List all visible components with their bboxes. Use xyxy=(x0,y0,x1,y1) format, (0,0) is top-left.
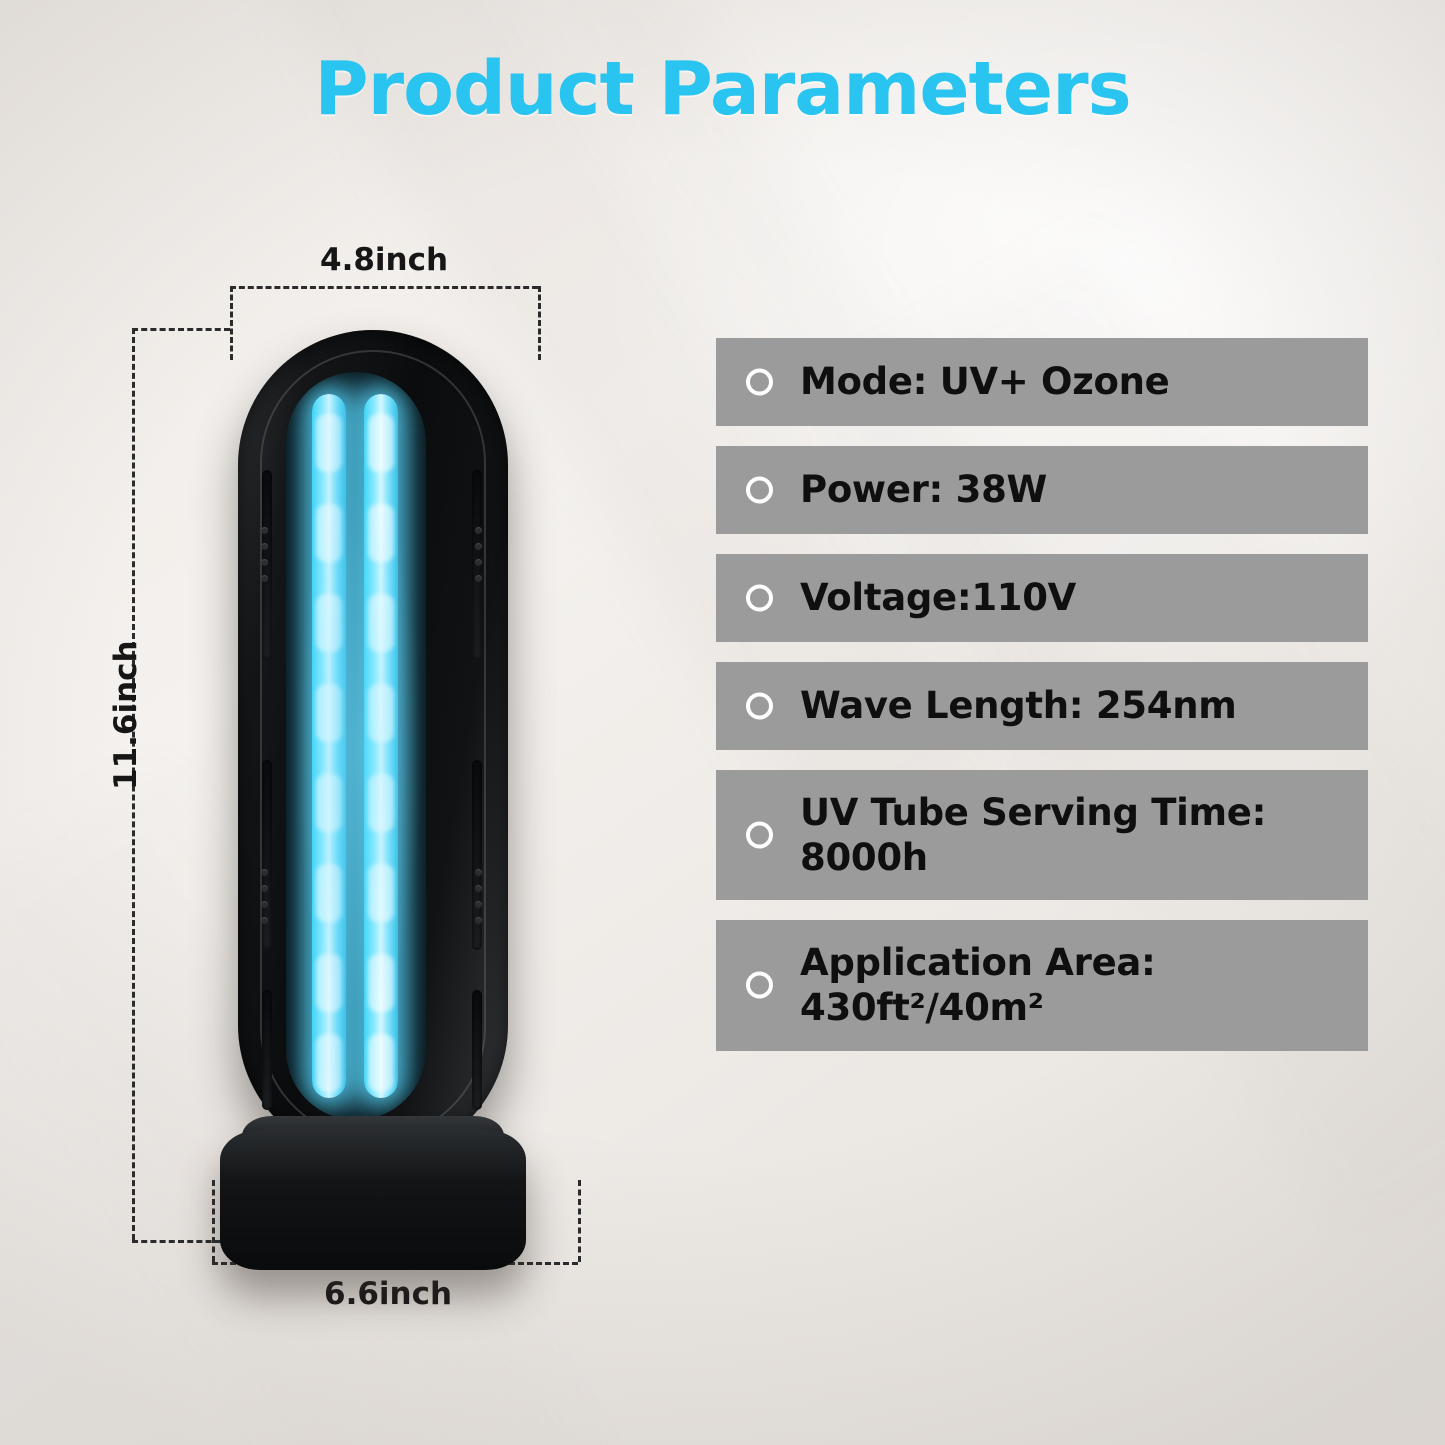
dimension-line-bottom-left xyxy=(212,1180,215,1262)
spec-row-power: Power: 38W xyxy=(716,446,1368,534)
indicator-dots-right xyxy=(472,518,484,591)
product-parameters-page: Product Parameters 4.8inch 11.6inch 6.6i… xyxy=(0,0,1445,1445)
spec-row-wavelength: Wave Length: 254nm xyxy=(716,662,1368,750)
spec-label-wavelength: Wave Length: 254nm xyxy=(800,683,1237,728)
spec-label-application-area: Application Area: 430ft²/40m² xyxy=(800,940,1156,1030)
circle-bullet-icon xyxy=(746,693,773,720)
dimension-line-bottom-right xyxy=(578,1180,581,1262)
specifications-list: Mode: UV+ Ozone Power: 38W Voltage:110V … xyxy=(716,338,1368,1071)
uv-tube-right xyxy=(364,394,398,1098)
lamp-inner-cavity xyxy=(286,372,426,1120)
page-title: Product Parameters xyxy=(0,46,1445,132)
dimension-line-left-top xyxy=(132,328,230,331)
spec-row-voltage: Voltage:110V xyxy=(716,554,1368,642)
indicator-dots-left xyxy=(258,860,270,933)
spec-label-voltage: Voltage:110V xyxy=(800,575,1076,620)
spec-label-mode: Mode: UV+ Ozone xyxy=(800,359,1169,404)
spec-label-application-area-line1: Application Area: xyxy=(800,941,1156,984)
circle-bullet-icon xyxy=(746,972,773,999)
uv-sterilizer-lamp-illustration: WARNING xyxy=(220,330,540,1330)
dimension-label-width-top: 4.8inch xyxy=(320,242,448,278)
spec-label-application-area-line2: 430ft²/40m² xyxy=(800,986,1044,1029)
indicator-dots-right xyxy=(472,860,484,933)
circle-bullet-icon xyxy=(746,477,773,504)
spec-row-tube-serving-time: UV Tube Serving Time: 8000h xyxy=(716,770,1368,900)
circle-bullet-icon xyxy=(746,369,773,396)
dimension-line-top xyxy=(230,286,538,289)
vent-slot-left xyxy=(262,990,272,1110)
spec-row-application-area: Application Area: 430ft²/40m² xyxy=(716,920,1368,1050)
spec-label-tube-serving-time: UV Tube Serving Time: 8000h xyxy=(800,790,1346,880)
dimension-line-left-bottom xyxy=(132,1240,230,1243)
indicator-dots-left xyxy=(258,518,270,591)
dimension-label-height: 11.6inch xyxy=(108,640,144,790)
lamp-base xyxy=(220,1130,526,1270)
spec-row-mode: Mode: UV+ Ozone xyxy=(716,338,1368,426)
vent-slot-right xyxy=(472,990,482,1110)
product-image-area: 4.8inch 11.6inch 6.6inch xyxy=(120,250,680,1310)
uv-tube-left xyxy=(312,394,346,1098)
spec-label-power: Power: 38W xyxy=(800,467,1047,512)
circle-bullet-icon xyxy=(746,822,773,849)
circle-bullet-icon xyxy=(746,585,773,612)
